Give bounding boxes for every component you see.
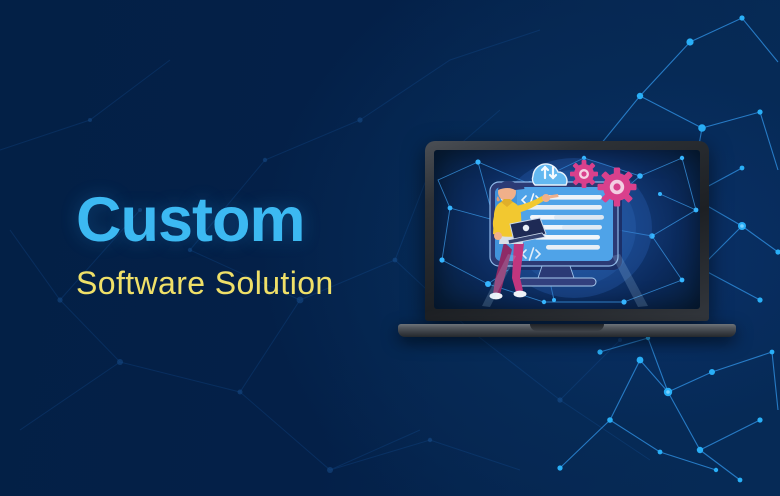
gear-large-icon — [598, 168, 637, 207]
laptop-lid — [425, 141, 709, 321]
laptop-base — [398, 324, 736, 337]
promo-banner: Custom Software Solution — [0, 0, 780, 496]
developer-illustration — [434, 150, 700, 309]
laptop-notch — [530, 324, 604, 331]
laptop-device — [398, 141, 736, 337]
gear-small-icon — [570, 160, 598, 188]
monitor-stand — [518, 278, 596, 286]
laptop-screen — [434, 150, 700, 309]
